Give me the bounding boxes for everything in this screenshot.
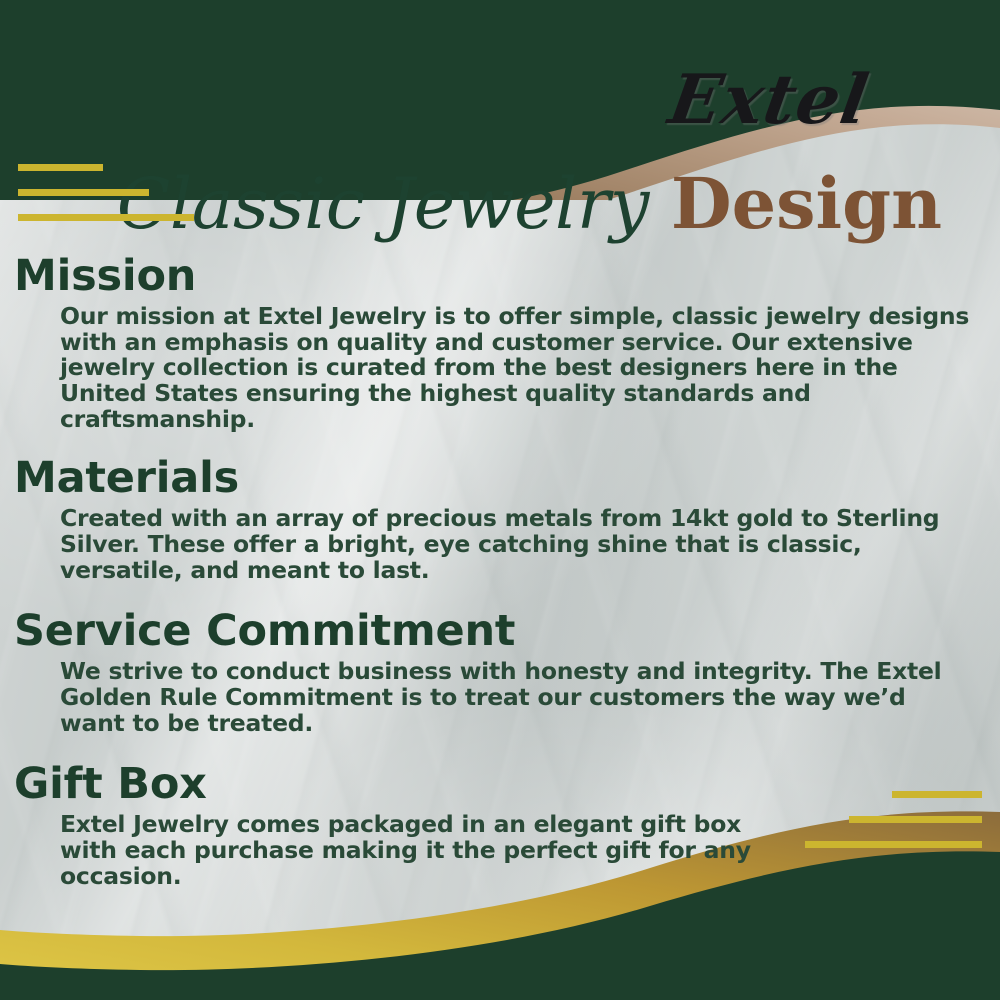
section-body: We strive to conduct business with hones… bbox=[60, 659, 945, 736]
section-title: Materials bbox=[14, 454, 1000, 502]
headline-serif-text: Design bbox=[671, 169, 942, 239]
section-body: Extel Jewelry comes packaged in an elega… bbox=[60, 812, 760, 889]
poster-canvas: Extel Classic Jewelry Design Mission Our… bbox=[0, 0, 1000, 1000]
content-sections: Mission Our mission at Extel Jewelry is … bbox=[0, 252, 1000, 889]
section-gift-box: Gift Box Extel Jewelry comes packaged in… bbox=[0, 760, 1000, 889]
section-materials: Materials Created with an array of preci… bbox=[0, 454, 1000, 583]
section-body: Created with an array of precious metals… bbox=[60, 506, 970, 583]
section-title: Mission bbox=[14, 252, 1000, 300]
section-title: Gift Box bbox=[14, 760, 1000, 808]
section-body: Our mission at Extel Jewelry is to offer… bbox=[60, 304, 974, 432]
accent-line-long bbox=[18, 214, 194, 221]
accent-line-short bbox=[18, 164, 103, 171]
brand-logo: Extel bbox=[599, 66, 940, 134]
headline-script-text: Classic Jewelry bbox=[117, 169, 649, 239]
section-mission: Mission Our mission at Extel Jewelry is … bbox=[0, 252, 1000, 432]
section-title: Service Commitment bbox=[14, 607, 1000, 655]
section-service-commitment: Service Commitment We strive to conduct … bbox=[0, 607, 1000, 736]
accent-lines-top-left bbox=[18, 164, 194, 221]
accent-line-medium bbox=[18, 189, 149, 196]
